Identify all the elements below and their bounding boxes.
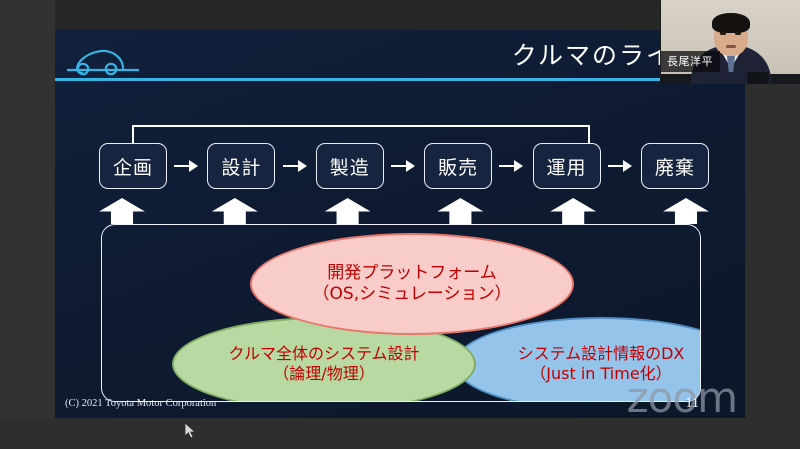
participant-name-badge: 長尾洋平: [661, 51, 720, 72]
microphone-device: [747, 72, 769, 84]
up-arrow-icon: [437, 198, 483, 224]
up-arrow-icon: [663, 198, 709, 224]
up-arrow-icon: [99, 198, 145, 224]
app-root: クルマのライフサ 企画 設計 製造 販売 運用 廃棄: [0, 0, 800, 449]
car-outline-icon: [63, 38, 143, 82]
flow-arrow-icon: [283, 158, 309, 174]
page-number: 11: [686, 396, 699, 412]
ellipse-green-line1: クルマ全体のシステム設計: [228, 344, 419, 364]
process-box-sekkei[interactable]: 設計: [207, 143, 275, 189]
up-arrow-icon: [550, 198, 596, 224]
process-box-hanbai[interactable]: 販売: [424, 143, 492, 189]
screen-share-bottom-band: [0, 418, 800, 449]
participant-video-tile[interactable]: 長尾洋平: [660, 0, 800, 84]
up-arrow-icon: [325, 198, 371, 224]
flow-arrow-icon: [608, 158, 634, 174]
flow-arrow-icon: [499, 158, 525, 174]
ellipse-pink-line2: （OS,シミュレーション）: [313, 284, 512, 305]
participant-hair: [712, 13, 750, 33]
presentation-slide[interactable]: クルマのライフサ 企画 設計 製造 販売 運用 廃棄: [55, 30, 745, 418]
process-box-unyou[interactable]: 運用: [533, 143, 601, 189]
participant-eye-left: [720, 32, 726, 35]
ellipse-blue-line1: システム設計情報のDX: [518, 344, 685, 364]
flow-arrow-icon: [174, 158, 200, 174]
flow-arrow-icon: [391, 158, 417, 174]
copyright-notice: (C) 2021 Toyota Motor Corporation: [65, 398, 216, 409]
ellipse-green-line2: （論理/物理）: [273, 364, 374, 384]
process-flow-row: 企画 設計 製造 販売 運用 廃棄: [99, 143, 709, 189]
participant-eye-right: [735, 32, 741, 35]
screen-share-left-band: [0, 0, 55, 449]
up-arrow-icon: [212, 198, 258, 224]
process-box-seizou[interactable]: 製造: [316, 143, 384, 189]
ellipse-pink-line1: 開発プラットフォーム: [327, 263, 497, 284]
support-arrows-row: [99, 198, 709, 226]
process-box-kikaku[interactable]: 企画: [99, 143, 167, 189]
zoom-watermark: zoom: [627, 373, 737, 418]
participant-mouth: [726, 45, 736, 48]
foundation-container: クルマ全体のシステム設計 （論理/物理） システム設計情報のDX （Just i…: [101, 224, 701, 402]
process-box-haiki[interactable]: 廃棄: [641, 143, 709, 189]
title-accent-rule: [55, 78, 745, 81]
ellipse-development-platform[interactable]: 開発プラットフォーム （OS,シミュレーション）: [250, 233, 574, 335]
